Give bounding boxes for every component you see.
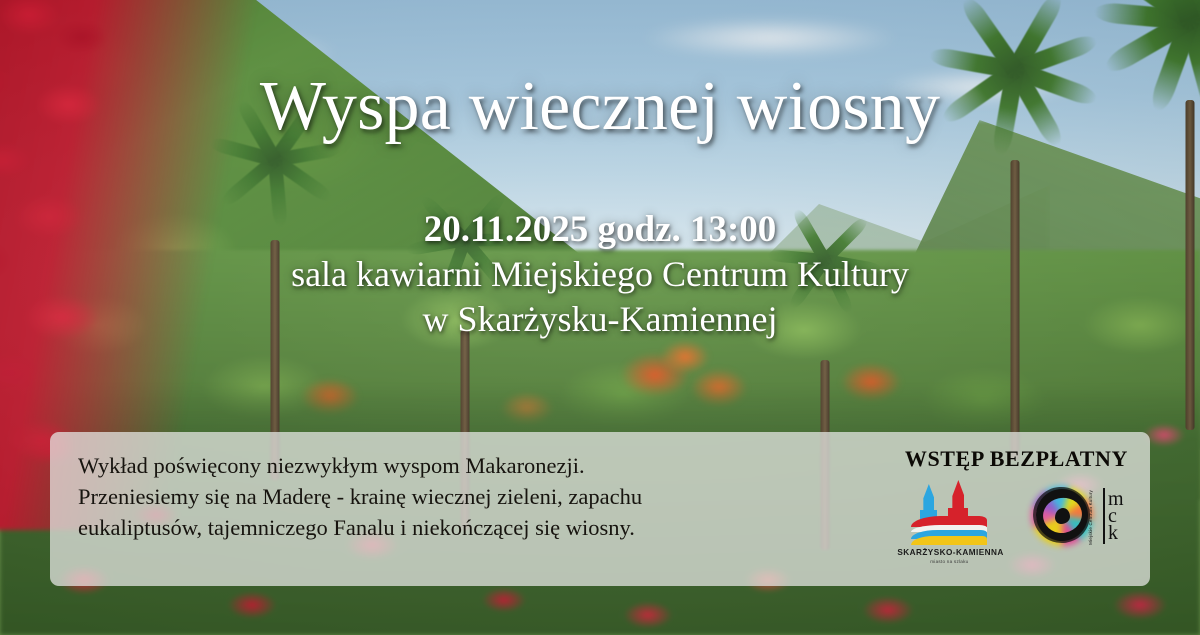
- cloud-shape: [640, 18, 900, 58]
- mck-logo: Miejskie Centrum Kultury mck: [1029, 484, 1124, 548]
- description-line-1: Wykład poświęcony niezwykłym wyspom Maka…: [78, 450, 868, 481]
- info-panel: Wykład poświęcony niezwykłym wyspom Maka…: [50, 432, 1150, 586]
- city-logo-tagline: miasto na szlaku: [897, 559, 1001, 564]
- event-venue-line-2: w Skarżysku-Kamiennej: [0, 297, 1200, 342]
- yellow-band-shape: [911, 536, 987, 545]
- description-line-2: Przeniesiemy się na Maderę - krainę wiec…: [78, 481, 868, 512]
- event-description: Wykład poświęcony niezwykłym wyspom Maka…: [78, 450, 868, 543]
- flame-tree: [660, 340, 710, 374]
- event-poster: Wyspa wiecznej wiosny 20.11.2025 godz. 1…: [0, 0, 1200, 635]
- event-venue-line-1: sala kawiarni Miejskiego Centrum Kultury: [0, 252, 1200, 297]
- mck-divider-line: [1103, 488, 1105, 544]
- mck-vertical-label: Miejskie Centrum Kultury: [1088, 490, 1093, 545]
- description-line-3: eukaliptusów, tajemniczego Fanalu i niek…: [78, 512, 868, 543]
- logo-row: SKARŻYSKO-KAMIENNA miasto na szlaku Miej…: [897, 484, 1124, 564]
- mck-brush-ring-icon: [1029, 484, 1095, 548]
- mck-wordmark: mck: [1108, 491, 1124, 542]
- page-title: Wyspa wiecznej wiosny: [0, 72, 1200, 142]
- free-entry-badge: WSTĘP BEZPŁATNY: [905, 446, 1128, 472]
- city-logo-name: SKARŻYSKO-KAMIENNA: [897, 548, 1001, 557]
- event-date-time: 20.11.2025 godz. 13:00: [0, 208, 1200, 252]
- event-details: 20.11.2025 godz. 13:00 sala kawiarni Mie…: [0, 208, 1200, 342]
- skarzysko-kamienna-logo: SKARŻYSKO-KAMIENNA miasto na szlaku: [897, 484, 1001, 564]
- city-emblem-icon: [903, 484, 995, 542]
